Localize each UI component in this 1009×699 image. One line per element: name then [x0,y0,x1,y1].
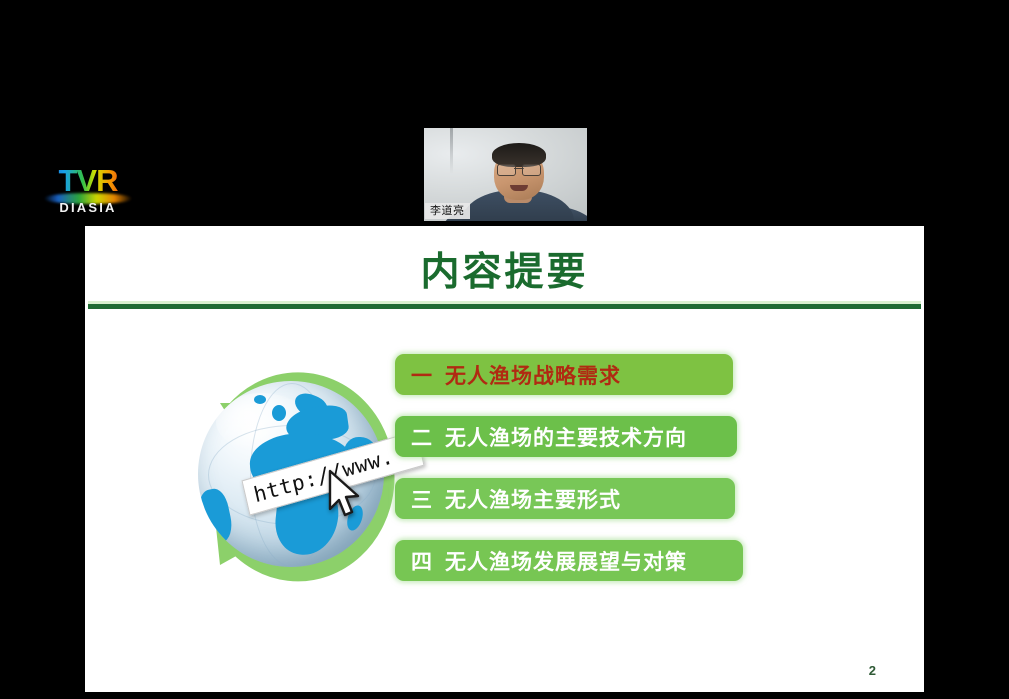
agenda-item-2-index: 二 [395,422,445,452]
video-speaker-glasses [497,164,541,174]
screen-capture-stage: TVR DIASIA 李道亮 内容提要 [0,0,1009,699]
agenda-item-3-index: 三 [395,484,445,514]
landmass-iceland [254,395,266,404]
mouse-cursor-icon [326,469,366,519]
slide-page-number: 2 [869,663,876,678]
video-wall-edge [450,128,453,174]
glasses-right-lens [522,164,541,176]
slide-title: 内容提要 [85,251,924,295]
speaker-video-tile[interactable]: 李道亮 [424,128,587,221]
participant-name-badge: 李道亮 [425,203,470,219]
agenda-item-1-label: 无人渔场战略需求 [445,360,621,390]
agenda-item-4[interactable]: 四 无人渔场发展展望与对策 [395,540,743,581]
agenda-item-1-index: 一 [395,360,445,390]
agenda-list: 一 无人渔场战略需求 二 无人渔场的主要技术方向 三 无人渔场主要形式 四 无人… [395,354,865,602]
agenda-item-4-index: 四 [395,546,445,576]
letterbox-bottom-bar [0,692,1009,699]
agenda-item-2[interactable]: 二 无人渔场的主要技术方向 [395,416,737,457]
title-divider-rule [88,304,921,309]
logo-subtitle: DIASIA [46,200,130,215]
agenda-item-2-label: 无人渔场的主要技术方向 [445,422,687,452]
globe-graphic: http://www. [190,359,405,609]
agenda-item-3[interactable]: 三 无人渔场主要形式 [395,478,735,519]
landmass-britain [272,405,286,421]
agenda-item-4-label: 无人渔场发展展望与对策 [445,546,687,576]
agenda-item-3-label: 无人渔场主要形式 [445,484,621,514]
presentation-slide: 内容提要 [85,226,924,692]
agenda-item-1[interactable]: 一 无人渔场战略需求 [395,354,733,395]
glasses-left-lens [497,164,516,176]
tvr-diasia-logo: TVR DIASIA [46,164,130,220]
